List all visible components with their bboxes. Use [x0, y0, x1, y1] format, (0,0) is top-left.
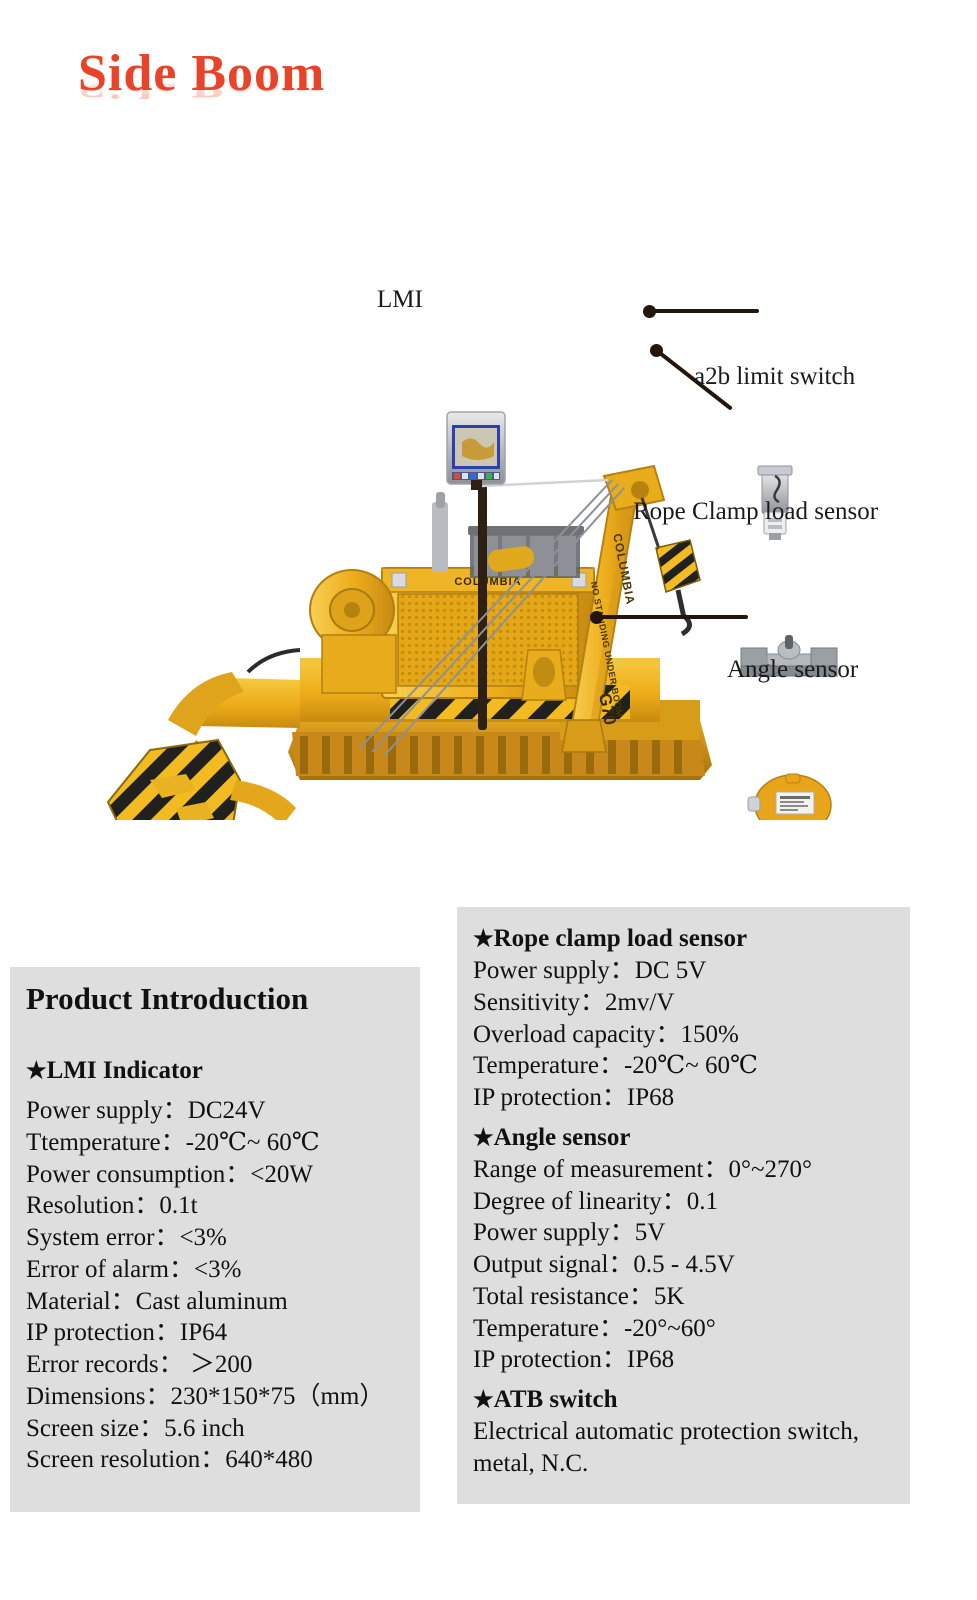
spec-line: Power supply：DC 5V [457, 955, 910, 987]
atb-switch-heading: ★ATB switch [457, 1376, 910, 1416]
spec-line: IP protection：IP64 [10, 1317, 420, 1349]
callout-label-a2b-limit-switch: a2b limit switch [694, 363, 855, 391]
spec-line: Screen resolution：640*480 [10, 1444, 420, 1476]
spec-line: Screen size：5.6 inch [10, 1413, 420, 1445]
page-title-reflection: Side Boom [78, 70, 498, 102]
spec-line: Range of measurement：0°~270° [457, 1154, 910, 1186]
star-icon: ★ [26, 1058, 47, 1083]
spec-line: Power supply：5V [457, 1217, 910, 1249]
angle-sensor-heading-text: Angle sensor [494, 1124, 631, 1151]
callout-label-rope-clamp-load-sensor: Rope Clamp load sensor [633, 498, 878, 526]
spec-line: System error：<3% [10, 1222, 420, 1254]
spec-line: Sensitivity：2mv/V [457, 987, 910, 1019]
spec-line: Ttemperature：-20℃~ 60℃ [10, 1127, 420, 1159]
spec-line: Electrical automatic protection switch, [457, 1416, 910, 1448]
lmi-indicator-heading: ★LMI Indicator [10, 1047, 420, 1087]
sensor-specs-panel: ★Rope clamp load sensor Power supply：DC … [457, 907, 910, 1504]
atb-switch-heading-text: ATB switch [494, 1386, 618, 1413]
callout-label-lmi: LMI [377, 286, 423, 314]
spec-line: Degree of linearity：0.1 [457, 1186, 910, 1218]
leader-line-a2b [649, 309, 759, 313]
star-icon: ★ [473, 926, 494, 951]
leader-line-angle [596, 615, 748, 619]
spec-line: Temperature：-20℃~ 60℃ [457, 1050, 910, 1082]
product-diagram: COLUMBIA [0, 180, 977, 820]
spec-line: IP protection：IP68 [457, 1344, 910, 1376]
angle-sensor-icon [748, 774, 831, 820]
page-title: Side Boom Side Boom [78, 48, 498, 158]
rope-clamp-load-sensor-icon [741, 465, 837, 676]
spec-line: Error records： ＞200 [10, 1349, 420, 1381]
star-icon: ★ [473, 1387, 494, 1412]
spec-line: Total resistance：5K [457, 1281, 910, 1313]
rope-clamp-load-sensor-heading-text: Rope clamp load sensor [494, 925, 747, 952]
spec-line: Power consumption：<20W [10, 1159, 420, 1191]
spec-line: Dimensions：230*150*75（mm） [10, 1381, 420, 1413]
star-icon: ★ [473, 1125, 494, 1150]
spec-line: Error of alarm：<3% [10, 1254, 420, 1286]
spec-line: Output signal：0.5 - 4.5V [457, 1249, 910, 1281]
lmi-display-unit [447, 412, 505, 490]
spec-line: Power supply：DC24V [10, 1095, 420, 1127]
rope-clamp-load-sensor-heading: ★Rope clamp load sensor [457, 907, 910, 955]
angle-sensor-heading: ★Angle sensor [457, 1114, 910, 1154]
spec-line: metal, N.C. [457, 1448, 910, 1480]
product-introduction-title: Product Introduction [10, 967, 420, 1021]
spec-line: Resolution：0.1t [10, 1190, 420, 1222]
product-introduction-panel: Product Introduction ★LMI Indicator Powe… [10, 967, 420, 1512]
lmi-indicator-heading-text: LMI Indicator [47, 1057, 203, 1084]
callout-label-angle-sensor: Angle sensor [727, 656, 858, 684]
spec-line: Material：Cast aluminum [10, 1286, 420, 1318]
spec-line: Overload capacity：150% [457, 1019, 910, 1051]
spec-line: Temperature：-20°~60° [457, 1313, 910, 1345]
spec-line: IP protection：IP68 [457, 1082, 910, 1114]
